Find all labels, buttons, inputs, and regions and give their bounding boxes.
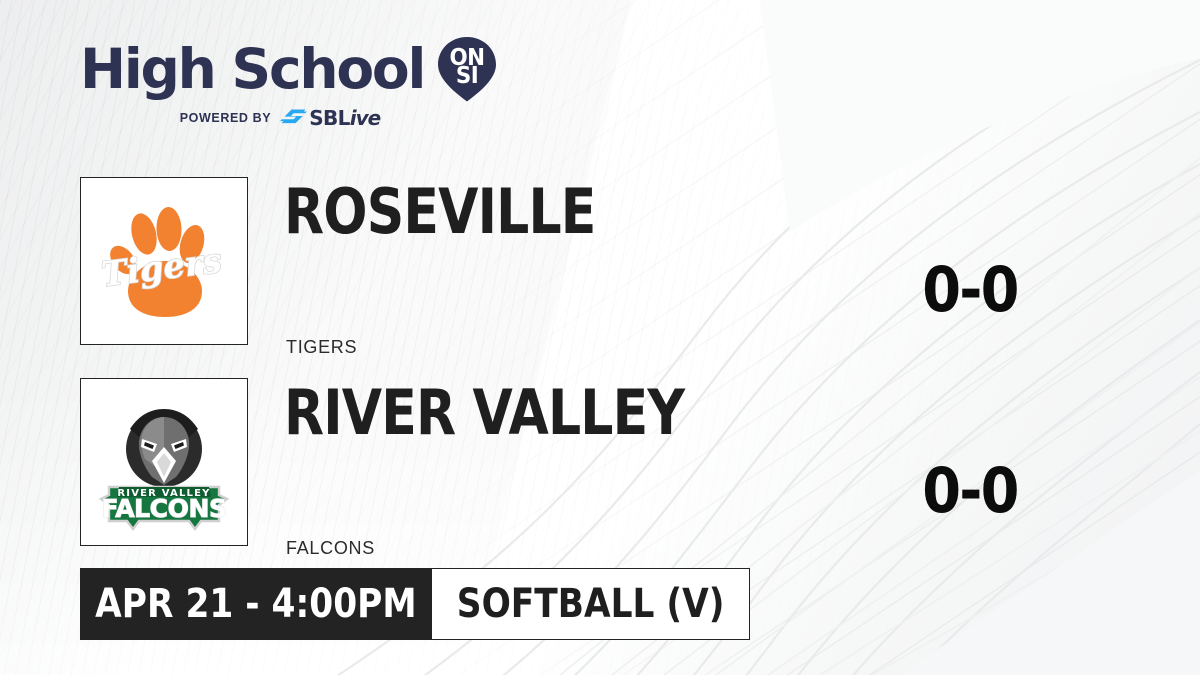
team-name-river-valley: RIVER VALLEY (284, 382, 684, 444)
game-info-bar: APR 21 - 4:00PM SOFTBALL (V) (80, 568, 750, 640)
logo-banner-main-text: FALCONS (101, 494, 226, 523)
sblive-word-main: SBL (309, 106, 350, 130)
tigers-paw-icon: Tigers (89, 186, 239, 336)
sblive-wordmark: SBLive (309, 108, 380, 128)
team-mascot-roseville: TIGERS (286, 337, 357, 358)
game-datetime-label: APR 21 - 4:00PM (95, 584, 416, 624)
game-datetime-block: APR 21 - 4:00PM (80, 568, 432, 640)
on-si-pin-icon: ON SI (436, 35, 498, 103)
team-name-roseville: ROSEVILLE (284, 181, 596, 243)
matchup-graphic: High School ON SI POWERED BY SBLive (0, 0, 1200, 675)
game-sport-block: SOFTBALL (V) (432, 568, 750, 640)
team-logo-roseville: Tigers (80, 177, 248, 345)
brand-header: High School ON SI POWERED BY SBLive (80, 36, 550, 128)
powered-by-label: POWERED BY (180, 111, 271, 125)
river-valley-falcons-icon: RIVER VALLEY FALCONS (89, 387, 239, 537)
sblive-word-italic: ive (350, 106, 380, 130)
team-record-river-valley: 0-0 (871, 460, 1069, 522)
sblive-bolt-icon (280, 108, 308, 128)
pin-label-si: SI (456, 62, 478, 89)
powered-by-row: POWERED BY SBLive (80, 108, 480, 128)
team-logo-river-valley: RIVER VALLEY FALCONS (80, 378, 248, 546)
team-record-roseville: 0-0 (871, 259, 1069, 321)
game-sport-label: SOFTBALL (V) (457, 584, 725, 624)
team-mascot-river-valley: FALCONS (286, 538, 375, 559)
sblive-logo: SBLive (280, 108, 380, 128)
brand-wordmark: High School (80, 42, 424, 97)
brand-logo-row: High School ON SI (80, 36, 550, 102)
